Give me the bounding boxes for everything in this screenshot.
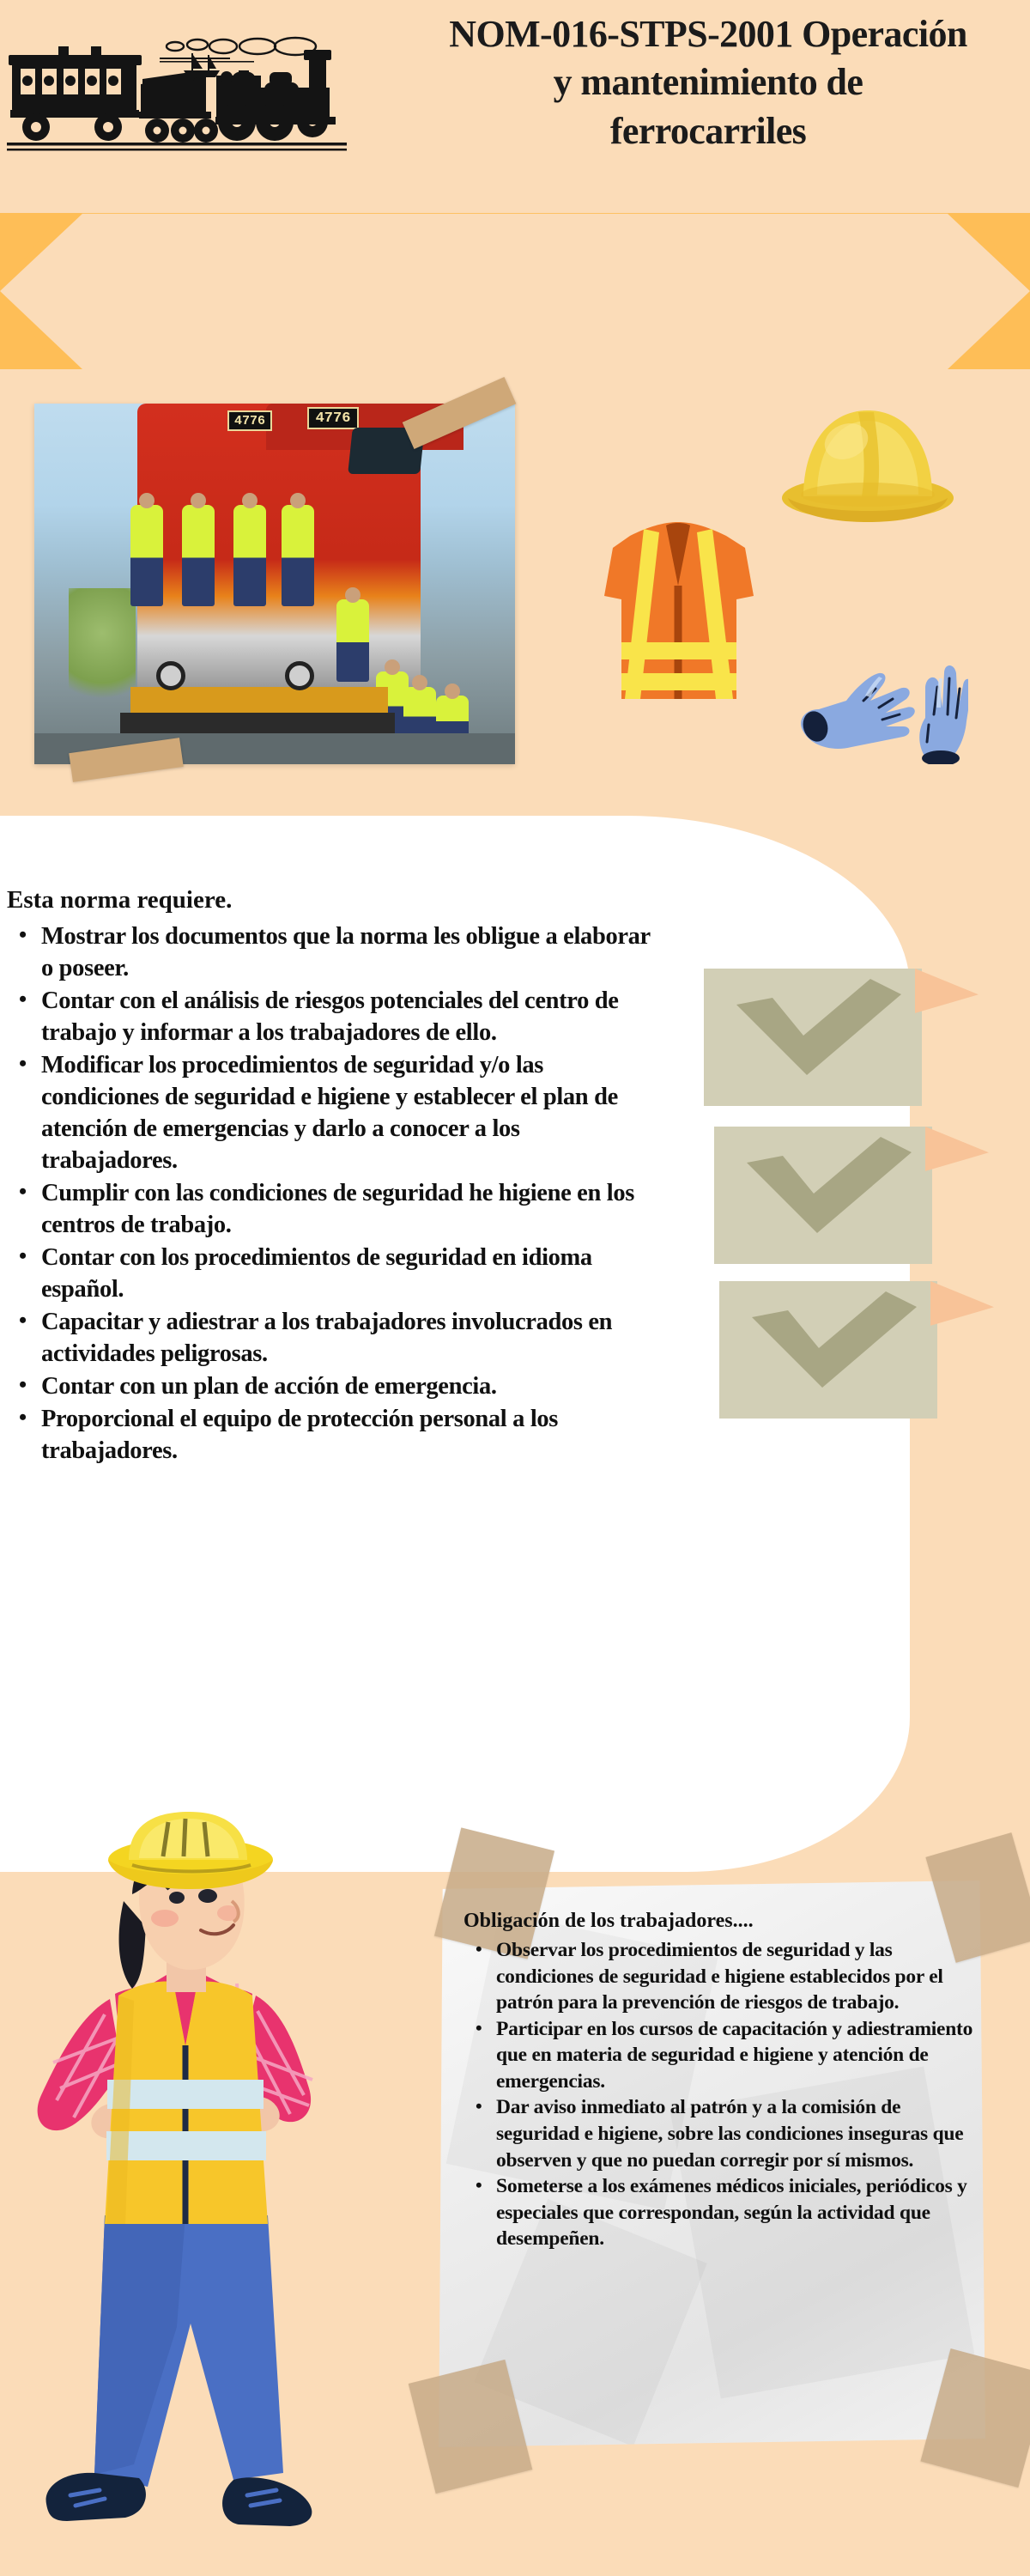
check-mark-icon [733,979,905,1080]
requirement-item: Mostrar los documentos que la norma les … [7,920,651,984]
note-item: Participar en los cursos de capacitación… [463,2016,987,2095]
locomotive-number-left: 4776 [227,410,272,431]
photo-worker [130,505,163,606]
headlamp-icon [156,661,185,690]
note-heading: Obligación de los trabajadores.... [463,1908,987,1935]
locomotive-number-right: 4776 [307,407,359,429]
tree-shape [69,588,136,717]
requirement-item: Modificar los procedimientos de segurida… [7,1049,651,1176]
check-mark-icon [748,1291,920,1393]
check-arrow [915,969,978,1030]
photo-worker [233,505,266,606]
requirement-item: Capacitar y adiestrar a los trabajadores… [7,1306,651,1370]
hard-hat-icon [779,397,956,524]
crew-photo: 4776 4776 [34,404,515,764]
note-list: Observar los procedimientos de seguridad… [463,1937,987,2252]
requirements-heading: Esta norma requiere. [7,884,651,917]
steam-locomotive-icon [7,9,393,180]
safety-vest-icon [577,513,781,728]
gloves-icon [797,635,968,764]
requirement-item: Cumplir con las condiciones de seguridad… [7,1177,651,1241]
banner-text: Establece medidas de seguridad e higiene… [86,230,944,372]
header: NOM-016-STPS-2001 Operación y mantenimie… [0,0,1030,206]
infographic-poster: NOM-016-STPS-2001 Operación y mantenimie… [0,0,1030,2576]
headlamp-icon [285,661,314,690]
banner-shape [0,213,1030,369]
photo-worker [282,505,314,606]
photo-worker [182,505,215,606]
page-title: NOM-016-STPS-2001 Operación y mantenimie… [395,10,1021,155]
note-item: Observar los procedimientos de seguridad… [463,1937,987,2016]
check-mark-icon [743,1137,915,1238]
requirement-item: Contar con los procedimientos de segurid… [7,1242,651,1305]
page-title-line-3: ferrocarriles [395,107,1021,155]
page-title-line-1: NOM-016-STPS-2001 Operación [395,10,1021,58]
requirement-item: Contar con un plan de acción de emergenc… [7,1370,651,1402]
check-arrow [930,1281,994,1343]
scope-banner: Establece medidas de seguridad e higiene… [0,213,1030,369]
requirements-block: Esta norma requiere. Mostrar los documen… [7,884,651,1467]
note-item: Someterse a los exámenes médicos inicial… [463,2173,987,2252]
requirement-item: Proporcional el equipo de protección per… [7,1403,651,1467]
page-title-line-2: y mantenimiento de [395,58,1021,106]
check-arrow [925,1127,989,1188]
requirement-item: Contar con el análisis de riesgos potenc… [7,985,651,1048]
note-body: Obligación de los trabajadores.... Obser… [463,1908,987,2252]
requirements-list: Mostrar los documentos que la norma les … [7,920,651,1467]
note-item: Dar aviso inmediato al patrón y a la com… [463,2094,987,2173]
construction-worker-illustration [22,1812,348,2576]
crew-photo-image: 4776 4776 [34,404,515,764]
photo-worker [336,599,369,682]
